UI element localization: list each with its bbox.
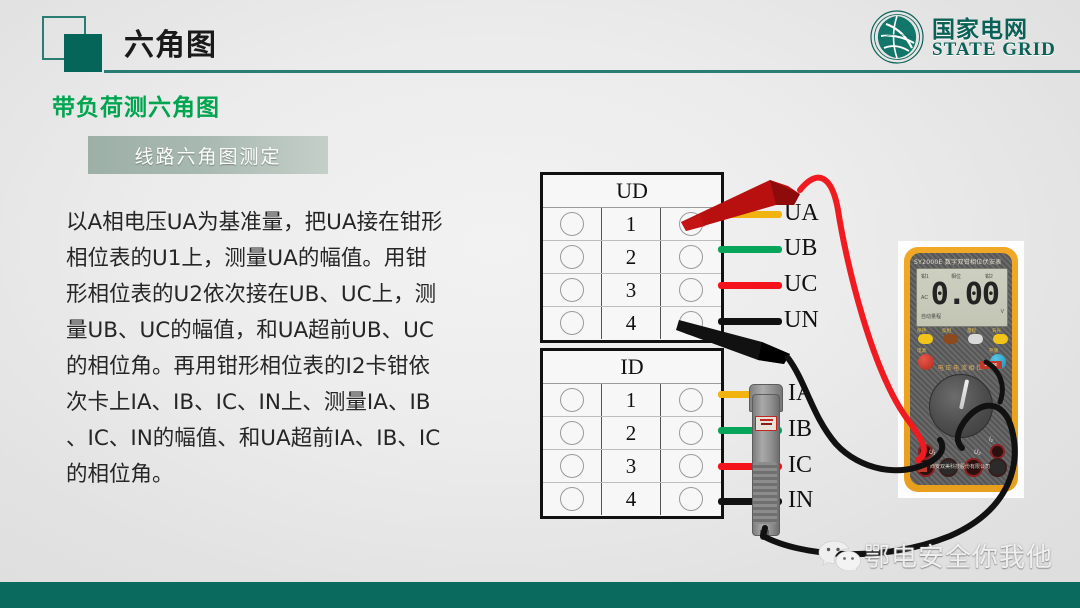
digital-phase-meter[interactable]: SY2000E 数字双钳相位伏安表 钳1 相位 钳2 AC 自动量程 V 0.0… [898, 241, 1024, 498]
slide-canvas: 六角图 国家电网 STATE GRID 带负荷测六角图 线路六角图测定 以A相电… [0, 0, 1080, 608]
meter-jack-label-u2: U₂ [974, 450, 981, 456]
meter-button-range-label: 量程 [967, 328, 976, 334]
body-line: 的相位角。 [66, 457, 504, 493]
body-line: 的相位角。再用钳形相位表的I2卡钳依 [66, 349, 504, 385]
wire-ua [718, 211, 782, 218]
terminal-row-number: 3 [602, 450, 661, 482]
wechat-icon [818, 538, 862, 570]
clamp-grip [753, 462, 777, 524]
clamp-current-probe[interactable] [748, 384, 782, 534]
wire-ub [718, 246, 782, 253]
watermark-text: 鄂电安全你我他 [864, 537, 1053, 574]
wire-un [718, 318, 782, 325]
terminal-hole-left[interactable] [560, 278, 584, 302]
wire-label-in: IN [788, 487, 813, 514]
terminal-row-number: 1 [602, 384, 661, 416]
clamp-label-sticker [755, 416, 777, 431]
page-title: 六角图 [124, 20, 217, 64]
body-line: 量UB、UC的幅值，和UA超前UB、UC [66, 313, 504, 349]
wire-label-un: UN [784, 307, 819, 334]
terminal-hole-right[interactable] [679, 388, 703, 412]
terminal-hole-right[interactable] [679, 212, 703, 236]
terminal-hole-right[interactable] [679, 245, 703, 269]
terminal-row-number: 4 [602, 307, 661, 339]
body-paragraph: 以A相电压UA为基准量，把UA接在钳形 相位表的U1上，测量UA的幅值。用钳 形… [66, 205, 504, 493]
wire-uc [718, 282, 782, 289]
wire-label-uc: UC [784, 271, 817, 298]
terminal-row[interactable]: 3 [543, 274, 721, 307]
meter-brand-mark [918, 462, 927, 472]
terminal-row[interactable]: 2 [543, 417, 721, 450]
terminal-row-number: 2 [602, 417, 661, 449]
body-line: 形相位表的U2依次接在UB、UC上，测 [66, 277, 504, 313]
body-line: 、IC、IN的幅值、和UA超前IA、IB、IC [66, 421, 504, 457]
section-heading: 带负荷测六角图 [52, 88, 220, 122]
terminal-hole-right[interactable] [679, 311, 703, 335]
terminal-row[interactable]: 4 [543, 483, 721, 515]
meter-power-button-label: 电源 [917, 348, 926, 354]
terminal-row[interactable]: 4 [543, 307, 721, 339]
clamp-cable-exit [760, 530, 769, 540]
meter-button-backlight[interactable] [993, 334, 1008, 344]
meter-button-backlight-label: 背光 [992, 328, 1001, 334]
terminal-hole-left[interactable] [560, 454, 584, 478]
state-grid-globe-emblem [870, 10, 924, 64]
wire-label-ub: UB [784, 235, 817, 262]
terminal-block-ud: UD 1 2 3 4 [540, 172, 724, 343]
terminal-hole-left[interactable] [560, 311, 584, 335]
terminal-hole-right[interactable] [679, 487, 703, 511]
square-solid-shape [64, 34, 102, 72]
terminal-hole-left[interactable] [560, 212, 584, 236]
meter-button-reverse[interactable] [943, 334, 958, 344]
terminal-hole-left[interactable] [560, 388, 584, 412]
state-grid-logo: 国家电网 STATE GRID [870, 8, 1066, 66]
terminal-row-number: 3 [602, 274, 661, 306]
terminal-block-id-rows: 1 2 3 4 [543, 384, 721, 515]
meter-manufacturer-text: 西安双美科技股份有限公司 [930, 463, 1016, 473]
body-line: 以A相电压UA为基准量，把UA接在钳形 [66, 205, 504, 241]
terminal-block-id: ID 1 2 3 4 [540, 348, 724, 519]
meter-button-hold[interactable] [918, 334, 933, 344]
terminal-hole-right[interactable] [679, 421, 703, 445]
terminal-row[interactable]: 3 [543, 450, 721, 483]
meter-dial-pointer [959, 379, 969, 409]
terminal-hole-left[interactable] [560, 487, 584, 511]
terminal-hole-right[interactable] [679, 454, 703, 478]
meter-button-hold-label: 保持 [917, 328, 926, 334]
footer-bar [0, 582, 1080, 608]
meter-model-text: SY2000E 数字双钳相位伏安表 [914, 257, 1008, 267]
terminal-block-ud-rows: 1 2 3 4 [543, 208, 721, 339]
terminal-row[interactable]: 1 [543, 384, 721, 417]
terminal-hole-left[interactable] [560, 421, 584, 445]
wire-label-ua: UA [784, 200, 819, 227]
meter-rotary-dial[interactable] [929, 374, 993, 438]
terminal-row-number: 1 [602, 208, 661, 240]
meter-button-reverse-label: 反相 [942, 328, 951, 334]
terminal-hole-right[interactable] [679, 278, 703, 302]
meter-jack-label-i1: I₁ [919, 437, 923, 443]
subtitle-banner: 线路六角图测定 [88, 136, 328, 174]
header-divider [104, 70, 1080, 73]
wire-label-ia: IA [788, 380, 813, 407]
meter-dial-badge: 2000E [980, 361, 1002, 369]
meter-jack-label-u1: U₁ [929, 450, 935, 456]
wire-label-ic: IC [788, 452, 812, 479]
brand-name-en: STATE GRID [932, 39, 1056, 61]
terminal-row-number: 2 [602, 241, 661, 273]
meter-store-button-label: 存储 [989, 348, 998, 354]
wechat-watermark: 鄂电安全你我他 [818, 534, 1068, 574]
wire-label-ib: IB [788, 416, 812, 443]
meter-button-range[interactable] [968, 334, 983, 344]
meter-jack-label-i2: I₂ [989, 437, 993, 443]
terminal-row[interactable]: 2 [543, 241, 721, 274]
meter-jack-i2[interactable] [990, 444, 1005, 459]
terminal-block-ud-title: UD [543, 175, 721, 208]
body-line: 相位表的U1上，测量UA的幅值。用钳 [66, 241, 504, 277]
subtitle-banner-label: 线路六角图测定 [134, 142, 281, 169]
meter-lcd-display: 钳1 相位 钳2 AC 自动量程 V 0.00 [916, 268, 1008, 327]
meter-display-value: 0.00 [917, 277, 999, 312]
terminal-block-id-title: ID [543, 351, 721, 384]
overlapping-squares-icon [42, 16, 108, 70]
body-line: 次卡上IA、IB、IC、IN上、测量IA、IB [66, 385, 504, 421]
terminal-row[interactable]: 1 [543, 208, 721, 241]
terminal-hole-left[interactable] [560, 245, 584, 269]
terminal-row-number: 4 [602, 483, 661, 515]
